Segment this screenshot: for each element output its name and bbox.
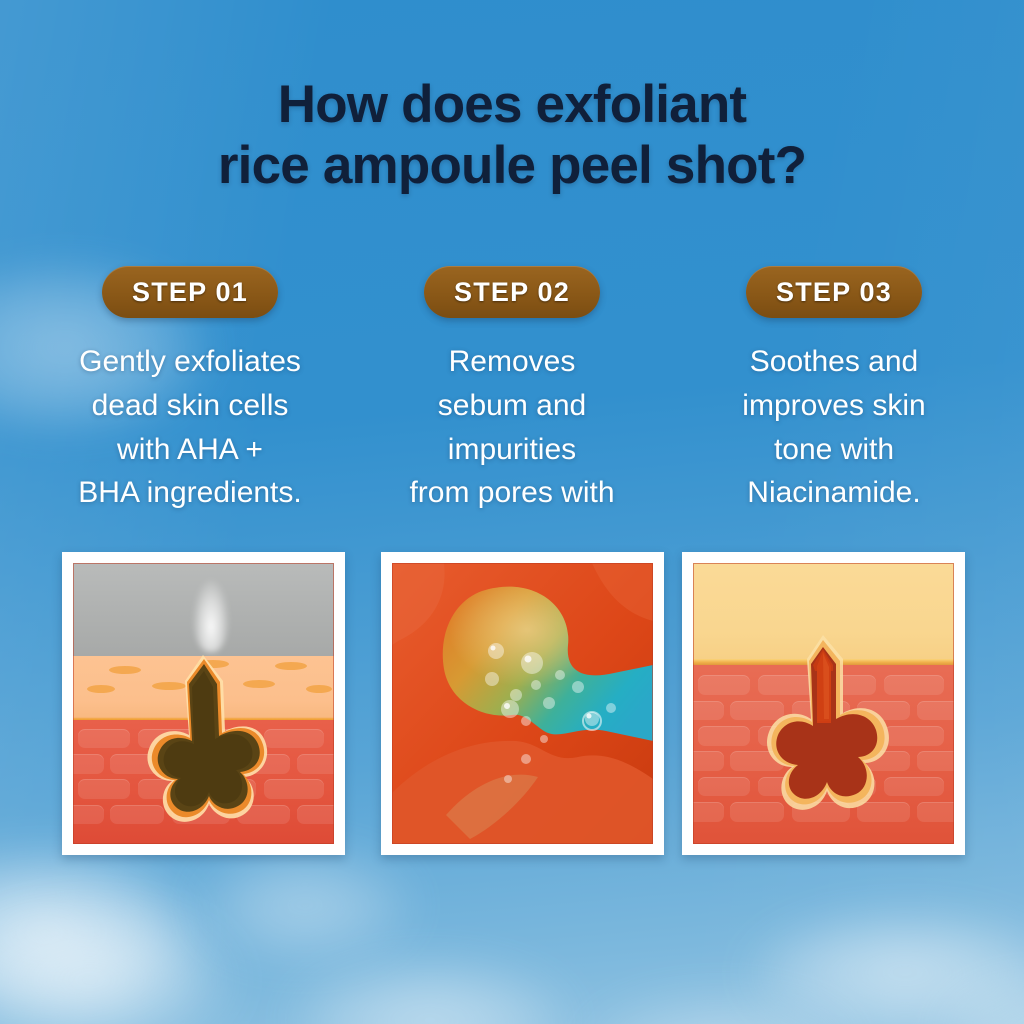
step-description-line: Gently exfoliates — [78, 340, 301, 384]
step-description-line: sebum and — [409, 384, 614, 428]
step-description-line: impurities — [409, 428, 614, 472]
illustration-panel-2 — [381, 552, 664, 855]
macro-pore-cleansing-image — [392, 563, 653, 844]
step-badge-02[interactable]: STEP 02 — [424, 266, 600, 318]
step-description-line: BHA ingredients. — [78, 471, 301, 515]
step-description-line: improves skin — [742, 384, 925, 428]
sebum-dissolving-icon — [392, 563, 653, 844]
step-description-line: Removes — [409, 340, 614, 384]
step-description-line: dead skin cells — [78, 384, 301, 428]
step-description-line: from pores with — [409, 471, 614, 515]
step-column-1: STEP 01 Gently exfoliates dead skin cell… — [29, 266, 351, 515]
page-title-line-1: How does exfoliant — [0, 74, 1024, 135]
step-description-line: Niacinamide. — [742, 471, 925, 515]
clogged-pore-cross-section-image — [73, 563, 334, 844]
step-column-2: STEP 02 Removes sebum and impurities fro… — [351, 266, 673, 515]
step-column-3: STEP 03 Soothes and improves skin tone w… — [673, 266, 995, 515]
step-badge-01[interactable]: STEP 01 — [102, 266, 278, 318]
step-description-03: Soothes and improves skin tone with Niac… — [742, 340, 925, 515]
page-title: How does exfoliant rice ampoule peel sho… — [0, 74, 1024, 197]
step-badge-03[interactable]: STEP 03 — [746, 266, 922, 318]
step-description-line: with AHA + — [78, 428, 301, 472]
clean-pore-icon — [693, 563, 954, 844]
cleansed-pore-cross-section-image — [693, 563, 954, 844]
step-description-01: Gently exfoliates dead skin cells with A… — [78, 340, 301, 515]
step-description-line: tone with — [742, 428, 925, 472]
page-title-line-2: rice ampoule peel shot? — [0, 135, 1024, 196]
illustration-panel-1 — [62, 552, 345, 855]
step-description-02: Removes sebum and impurities from pores … — [409, 340, 614, 515]
illustration-row — [0, 552, 1024, 857]
illustration-panel-3 — [682, 552, 965, 855]
step-description-line: Soothes and — [742, 340, 925, 384]
sebum-plug-icon — [73, 563, 334, 844]
steps-row: STEP 01 Gently exfoliates dead skin cell… — [0, 266, 1024, 515]
